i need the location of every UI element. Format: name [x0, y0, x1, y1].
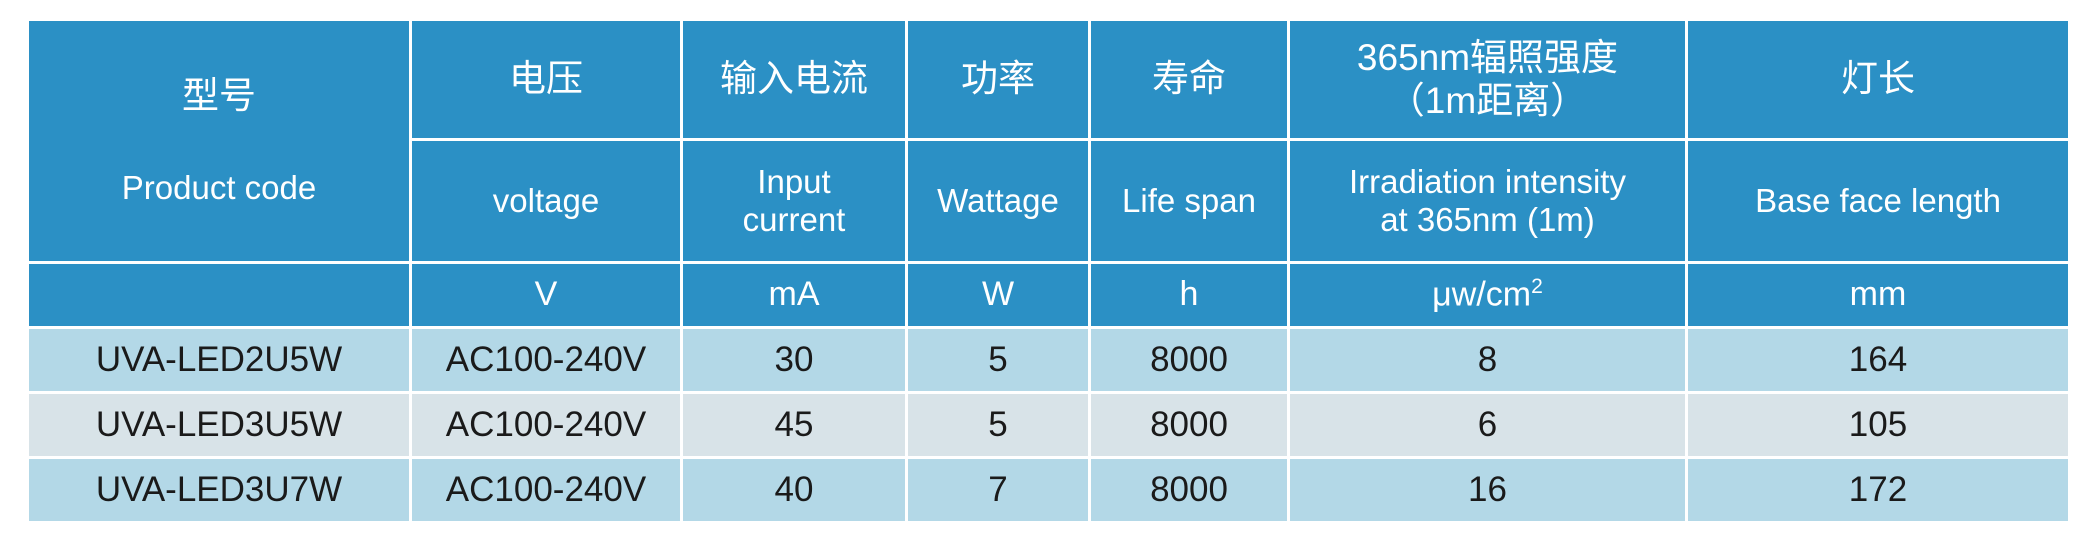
header-irradiation-en-line2: at 365nm (1m): [1290, 201, 1685, 239]
header-cell-voltage-en: voltage: [412, 141, 680, 261]
cell-voltage: AC100-240V: [412, 329, 680, 391]
header-irradiation-en-line1: Irradiation intensity: [1290, 163, 1685, 201]
header-product-code-en: Product code: [29, 169, 409, 207]
cell-voltage: AC100-240V: [412, 459, 680, 521]
header-cell-product-code: 型号 Product code: [29, 21, 409, 261]
table-row: UVA-LED3U7W AC100-240V 40 7 8000 16 172: [29, 459, 2068, 521]
cell-wattage: 7: [908, 459, 1088, 521]
cell-life-span: 8000: [1091, 329, 1287, 391]
header-product-code-cn: 型号: [29, 75, 409, 170]
header-unit-irradiation-exponent: 2: [1531, 275, 1543, 298]
header-unit-irradiation-base: μw/cm: [1432, 276, 1531, 314]
table-row: UVA-LED3U5W AC100-240V 45 5 8000 6 105: [29, 394, 2068, 456]
cell-irradiation: 8: [1290, 329, 1685, 391]
header-row-chinese: 型号 Product code 电压 输入电流 功率 寿命 365nm辐照强度 …: [29, 21, 2068, 138]
header-unit-irradiation: μw/cm2: [1290, 264, 1685, 326]
header-row-units: V mA W h μw/cm2 mm: [29, 264, 2068, 326]
header-cell-input-current-cn: 输入电流: [683, 21, 905, 138]
cell-irradiation: 16: [1290, 459, 1685, 521]
header-cell-irradiation-en: Irradiation intensity at 365nm (1m): [1290, 141, 1685, 261]
header-unit-base-face-length: mm: [1688, 264, 2068, 326]
header-unit-wattage: W: [908, 264, 1088, 326]
header-irradiation-cn-line1: 365nm辐照强度: [1290, 37, 1685, 80]
header-unit-life-span: h: [1091, 264, 1287, 326]
header-cell-wattage-cn: 功率: [908, 21, 1088, 138]
cell-wattage: 5: [908, 329, 1088, 391]
header-cell-life-span-en: Life span: [1091, 141, 1287, 261]
header-cell-life-span-cn: 寿命: [1091, 21, 1287, 138]
cell-irradiation: 6: [1290, 394, 1685, 456]
specification-table: 型号 Product code 电压 输入电流 功率 寿命 365nm辐照强度 …: [26, 18, 2071, 524]
header-unit-input-current: mA: [683, 264, 905, 326]
header-irradiation-cn-line2: （1m距离）: [1290, 80, 1685, 123]
cell-base-face-length: 105: [1688, 394, 2068, 456]
cell-product-code: UVA-LED3U5W: [29, 394, 409, 456]
table-row: UVA-LED2U5W AC100-240V 30 5 8000 8 164: [29, 329, 2068, 391]
cell-voltage: AC100-240V: [412, 394, 680, 456]
cell-life-span: 8000: [1091, 394, 1287, 456]
cell-input-current: 40: [683, 459, 905, 521]
cell-base-face-length: 172: [1688, 459, 2068, 521]
header-unit-product-code: [29, 264, 409, 326]
cell-input-current: 45: [683, 394, 905, 456]
header-unit-voltage: V: [412, 264, 680, 326]
cell-wattage: 5: [908, 394, 1088, 456]
header-cell-irradiation-cn: 365nm辐照强度 （1m距离）: [1290, 21, 1685, 138]
header-input-current-en-line1: Input: [683, 163, 905, 201]
cell-input-current: 30: [683, 329, 905, 391]
header-cell-input-current-en: Input current: [683, 141, 905, 261]
cell-base-face-length: 164: [1688, 329, 2068, 391]
header-cell-wattage-en: Wattage: [908, 141, 1088, 261]
header-input-current-en-line2: current: [683, 201, 905, 239]
cell-life-span: 8000: [1091, 459, 1287, 521]
header-cell-voltage-cn: 电压: [412, 21, 680, 138]
header-cell-base-face-length-cn: 灯长: [1688, 21, 2068, 138]
cell-product-code: UVA-LED2U5W: [29, 329, 409, 391]
header-cell-base-face-length-en: Base face length: [1688, 141, 2068, 261]
cell-product-code: UVA-LED3U7W: [29, 459, 409, 521]
